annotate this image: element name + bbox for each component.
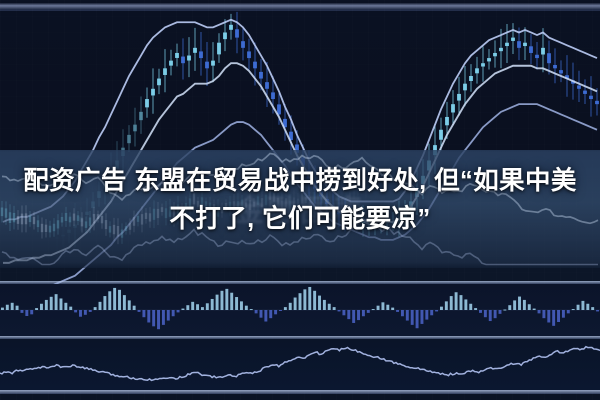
headline-line-2: 不打了, 它们可能要凉” — [8, 200, 592, 238]
panel-separator-middle — [0, 336, 600, 339]
panel-separator-top — [0, 281, 600, 284]
news-thumbnail-card: 金融图表 配资广告 东盟在贸易战中捞到好处, 但“如果中美 不打了, 它们可能要… — [0, 0, 600, 400]
indicator-line-series — [0, 347, 600, 381]
headline-line-1: 配资广告 东盟在贸易战中捞到好处, 但“如果中美 — [23, 167, 577, 195]
panel-separator-bottom — [0, 390, 600, 394]
page-title: 配资广告 东盟在贸易战中捞到好处, 但“如果中美 不打了, 它们可能要凉” — [8, 162, 592, 238]
